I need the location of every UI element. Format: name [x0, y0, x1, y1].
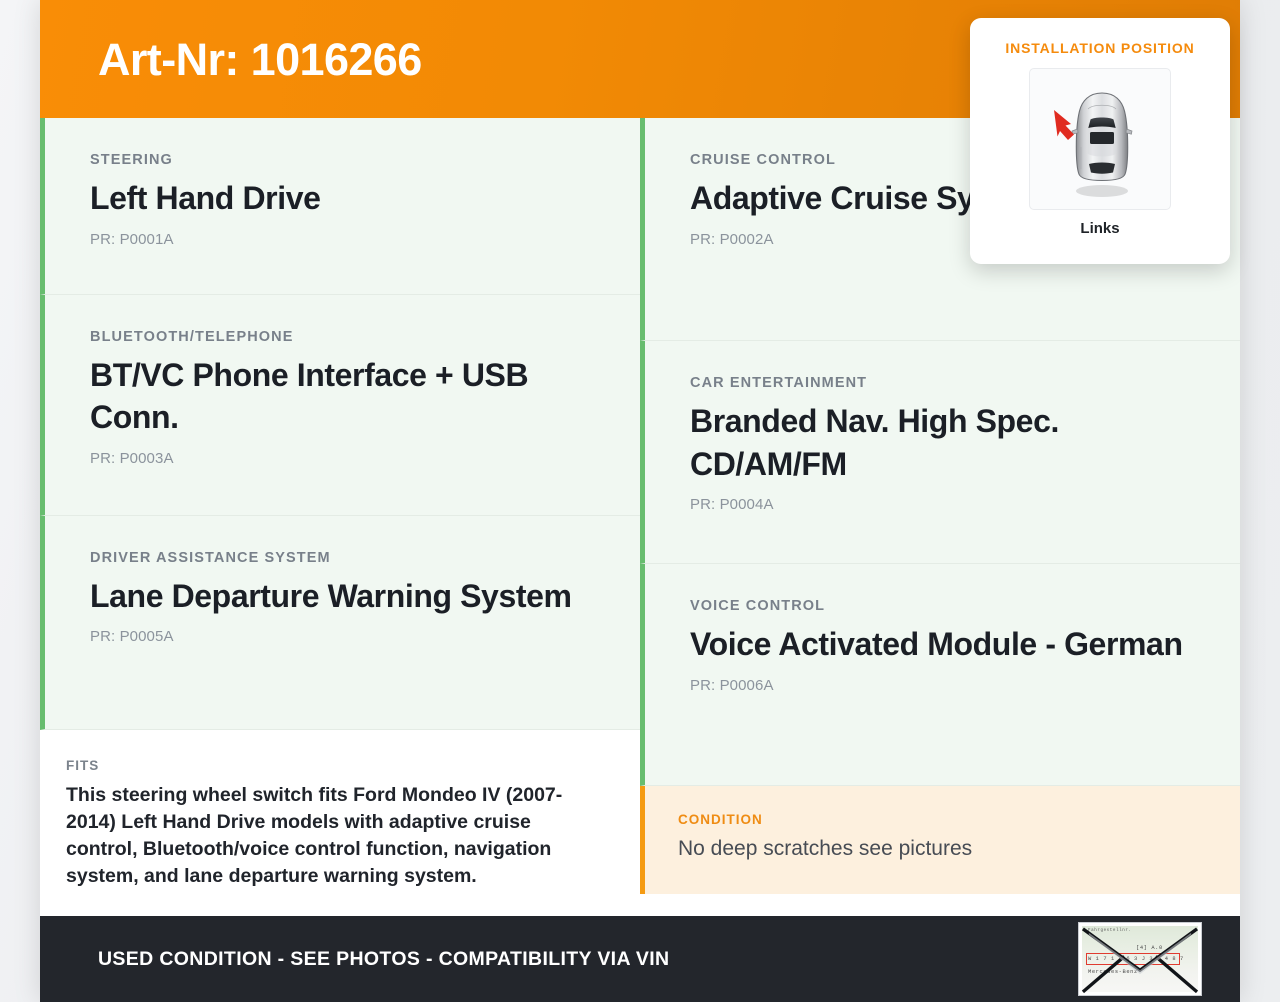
spec-value: BT/VC Phone Interface + USB Conn. — [90, 354, 600, 439]
specs-column-left: Steering Left Hand Drive PR: P0001A Blue… — [40, 118, 640, 916]
spec-pr-code: PR: P0004A — [690, 496, 1200, 513]
footer-bar: Used condition - see photos - compatibil… — [40, 916, 1240, 1002]
installation-position-title: Installation Position — [1005, 40, 1194, 56]
footer-text: Used condition - see photos - compatibil… — [98, 948, 669, 971]
spec-value: Voice Activated Module - German — [690, 623, 1200, 666]
condition-label: Condition — [678, 812, 1200, 827]
envelope-icon: Fahrgestellnr. [4] A.0 W 1 7 1 4 6 3 J 3… — [1078, 922, 1202, 996]
spec-label: Car Entertainment — [690, 375, 1200, 391]
installation-position-caption: Links — [1080, 220, 1119, 237]
spec-value: Branded Nav. High Spec. CD/AM/FM — [690, 400, 1200, 485]
page-title: Art-Nr: 1016266 — [98, 37, 422, 82]
installation-position-card[interactable]: Installation Position — [970, 18, 1230, 264]
spec-row: Bluetooth/Telephone BT/VC Phone Interfac… — [40, 295, 640, 516]
envelope-outline-icon — [1079, 923, 1201, 996]
fits-section: Fits This steering wheel switch fits For… — [40, 730, 640, 916]
fits-text: This steering wheel switch fits Ford Mon… — [66, 782, 594, 890]
condition-text: No deep scratches see pictures — [678, 835, 1200, 862]
car-top-view-icon — [1030, 69, 1171, 210]
spec-value: Left Hand Drive — [90, 177, 600, 220]
condition-section: Condition No deep scratches see pictures — [640, 786, 1240, 894]
installation-position-image — [1029, 68, 1171, 210]
spec-value: Lane Departure Warning System — [90, 575, 600, 618]
spec-label: Steering — [90, 152, 600, 168]
spec-pr-code: PR: P0001A — [90, 231, 600, 248]
spec-label: Bluetooth/Telephone — [90, 329, 600, 345]
spec-label: Driver Assistance System — [90, 550, 600, 566]
column-spacer — [640, 894, 1240, 916]
spec-pr-code: PR: P0005A — [90, 628, 600, 645]
spec-row: Steering Left Hand Drive PR: P0001A — [40, 118, 640, 295]
red-arrow-icon — [1054, 110, 1074, 140]
spec-label: Voice Control — [690, 598, 1200, 614]
spec-row: Driver Assistance System Lane Departure … — [40, 516, 640, 731]
spec-row: Voice Control Voice Activated Module - G… — [640, 564, 1240, 786]
spec-pr-code: PR: P0006A — [690, 677, 1200, 694]
spec-row: Car Entertainment Branded Nav. High Spec… — [640, 341, 1240, 564]
fits-label: Fits — [66, 758, 594, 773]
spec-pr-code: PR: P0003A — [90, 450, 600, 467]
